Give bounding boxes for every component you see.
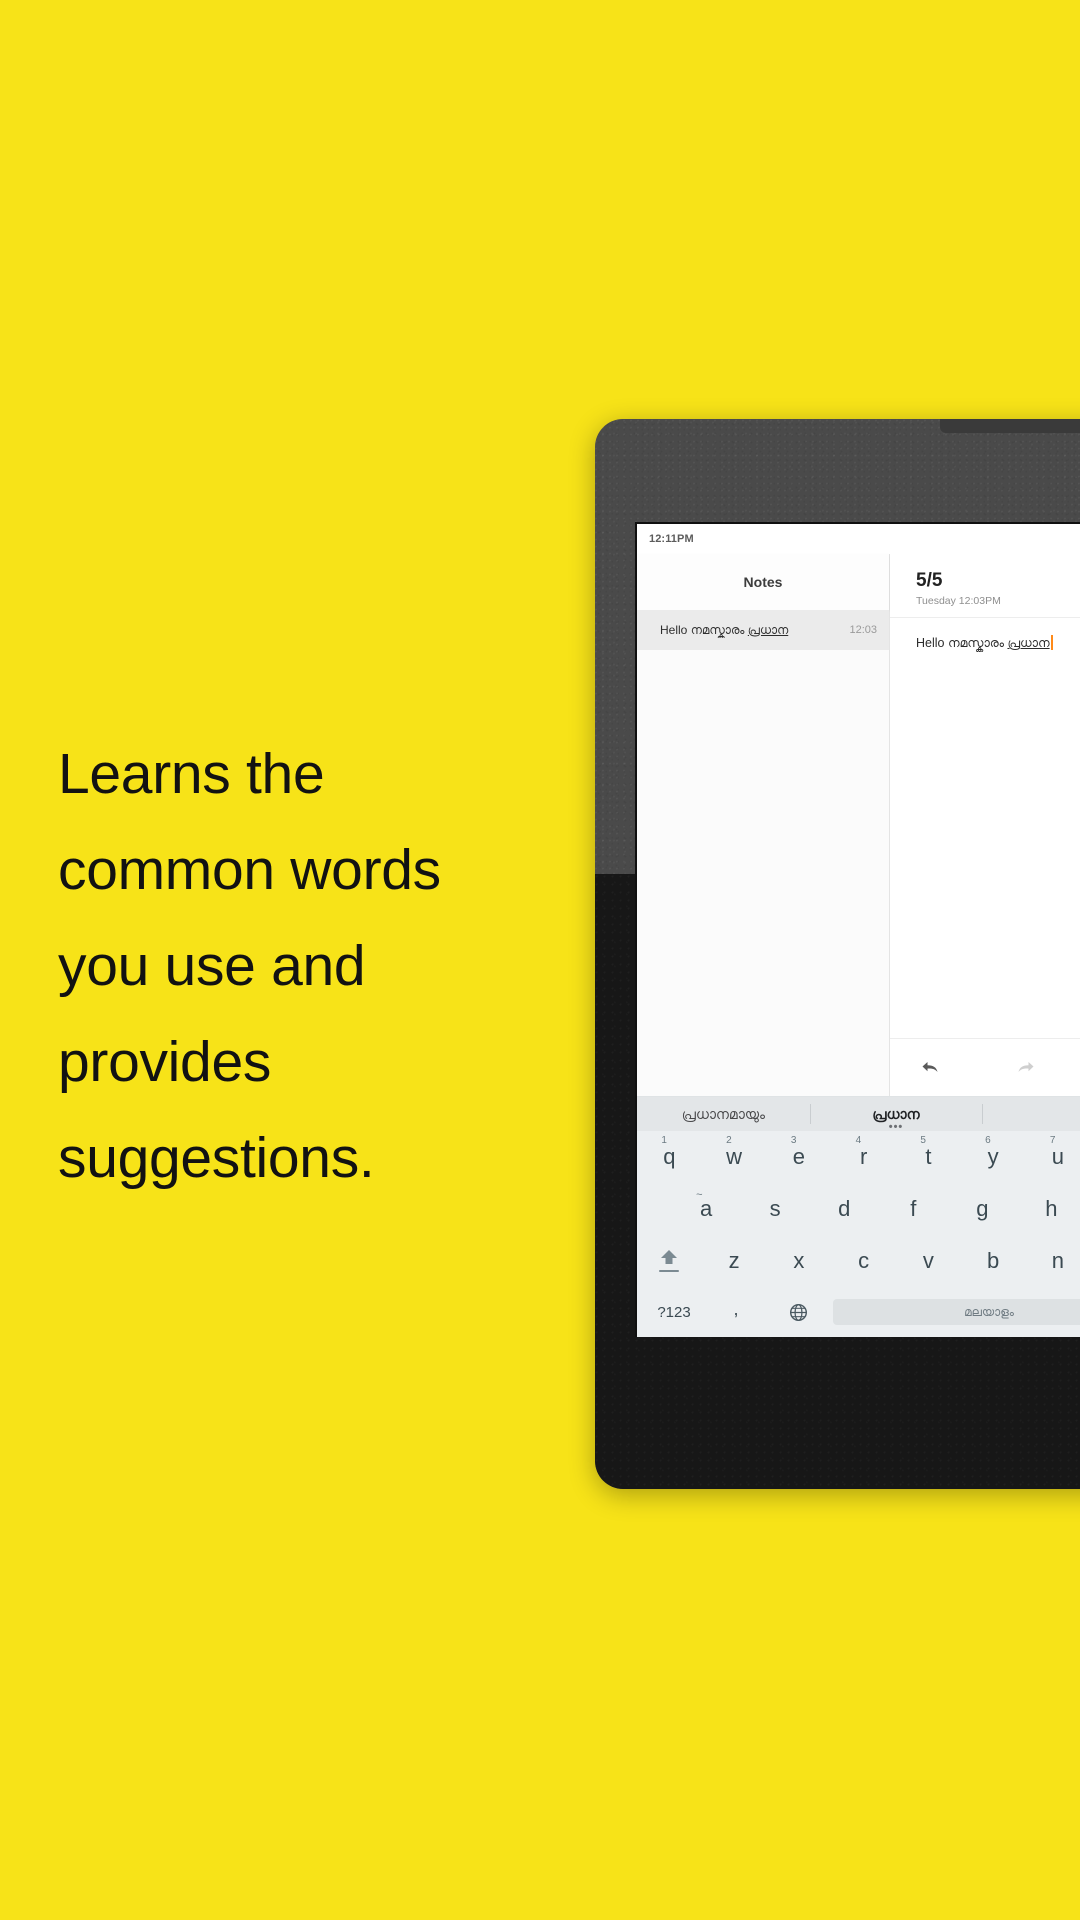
- promo-page: Learns the common words you use and prov…: [0, 0, 1080, 1920]
- note-detail-header: 5/5 Tuesday 12:03PM: [890, 554, 1080, 617]
- suggestion-bar: പ്രധാനമായും പ്രധാന •••: [637, 1097, 1080, 1131]
- key-b[interactable]: b: [961, 1235, 1026, 1287]
- note-detail-title: 5/5: [916, 570, 1080, 592]
- key-label: r: [860, 1144, 867, 1170]
- key-w[interactable]: 2w: [702, 1131, 767, 1183]
- key-y[interactable]: 6y: [961, 1131, 1026, 1183]
- shift-underline: [659, 1270, 679, 1272]
- key-label: s: [770, 1196, 781, 1222]
- undo-icon[interactable]: [918, 1056, 942, 1080]
- note-text-field[interactable]: Hello നമസ്കാരം പ്രധാന: [916, 634, 1080, 652]
- key-number-hint: 2: [726, 1135, 732, 1146]
- key-v[interactable]: v: [896, 1235, 961, 1287]
- page-title: Learns the common words you use and prov…: [58, 726, 528, 1206]
- key-s[interactable]: s: [741, 1183, 810, 1235]
- keyboard-row-1: 1q2w3e4r5t6y7u8i: [637, 1131, 1080, 1183]
- key-label: g: [976, 1196, 988, 1222]
- note-detail-pane: 5/5 Tuesday 12:03PM Hello നമസ്കാരം പ്രധാ…: [890, 554, 1080, 1096]
- redo-icon[interactable]: [1014, 1056, 1038, 1080]
- notes-list-title: Notes: [744, 574, 783, 590]
- status-clock: 12:11PM: [649, 533, 694, 545]
- key-a[interactable]: ~a: [672, 1183, 741, 1235]
- key-f[interactable]: f: [879, 1183, 948, 1235]
- edit-toolbar: [890, 1038, 1080, 1096]
- keyboard-row-2: ~asdfghj: [637, 1183, 1080, 1235]
- notes-list-pane: Notes Hello നമസ്കാരം പ്രധാന 12:03: [637, 554, 890, 1096]
- list-item[interactable]: Hello നമസ്കാരം പ്രധാന 12:03: [637, 610, 889, 650]
- key-label: x: [793, 1248, 804, 1274]
- key-r[interactable]: 4r: [831, 1131, 896, 1183]
- key-u[interactable]: 7u: [1026, 1131, 1080, 1183]
- key-label: d: [838, 1196, 850, 1222]
- key-number-hint: 5: [920, 1135, 926, 1146]
- key-e[interactable]: 3e: [767, 1131, 832, 1183]
- key-number-hint: 1: [661, 1135, 667, 1146]
- suggestion-2[interactable]: [982, 1097, 1080, 1131]
- device-screen: 12:11PM Notes Hello നമസ്കാരം പ്രധാന 12:0…: [635, 522, 1080, 1337]
- text-caret: [1051, 635, 1053, 650]
- key-label: b: [987, 1248, 999, 1274]
- key-x[interactable]: x: [767, 1235, 832, 1287]
- key-z[interactable]: z: [702, 1235, 767, 1287]
- key-g[interactable]: g: [948, 1183, 1017, 1235]
- spacebar-key[interactable]: മലയാളം: [833, 1299, 1080, 1325]
- note-detail-body[interactable]: Hello നമസ്കാരം പ്രധാന: [890, 618, 1080, 1038]
- key-label: n: [1052, 1248, 1064, 1274]
- key-number-hint: 4: [856, 1135, 862, 1146]
- symbols-key[interactable]: ?123: [643, 1287, 705, 1337]
- key-label: q: [663, 1144, 675, 1170]
- notes-list-empty-area: [637, 650, 889, 1096]
- list-item-text: Hello നമസ്കാരം പ്രധാന: [660, 623, 841, 638]
- keyboard-row-bottom: ?123 , മലയാളം: [637, 1287, 1080, 1337]
- suggestion-more-icon: •••: [889, 1123, 904, 1131]
- suggestion-label: പ്രധാന: [872, 1106, 919, 1123]
- key-n[interactable]: n: [1026, 1235, 1080, 1287]
- device-notch: [940, 419, 1080, 433]
- key-label: u: [1052, 1144, 1064, 1170]
- tablet-device: 12:11PM Notes Hello നമസ്കാരം പ്രധാന 12:0…: [595, 419, 1080, 1489]
- on-screen-keyboard: പ്രധാനമായും പ്രധാന ••• 1q2w3e4r5t6y7u8i …: [637, 1096, 1080, 1337]
- key-label: y: [988, 1144, 999, 1170]
- shift-key[interactable]: [637, 1235, 702, 1287]
- globe-icon[interactable]: [767, 1287, 829, 1337]
- note-detail-subtitle: Tuesday 12:03PM: [916, 595, 1080, 607]
- key-h[interactable]: h: [1017, 1183, 1080, 1235]
- suggestion-1[interactable]: പ്രധാന •••: [810, 1097, 983, 1131]
- key-label: h: [1045, 1196, 1057, 1222]
- notes-app-body: Notes Hello നമസ്കാരം പ്രധാന 12:03 5/5 T: [637, 554, 1080, 1096]
- key-label: f: [910, 1196, 916, 1222]
- list-item-time: 12:03: [849, 624, 877, 636]
- shift-arrow-icon: [660, 1250, 678, 1265]
- key-c[interactable]: c: [831, 1235, 896, 1287]
- suggestion-label: പ്രധാനമായും: [682, 1106, 765, 1123]
- keyboard-row-3: zxcvbnr: [637, 1235, 1080, 1287]
- key-accent-hint: ~: [696, 1189, 702, 1201]
- key-d[interactable]: d: [810, 1183, 879, 1235]
- key-label: e: [793, 1144, 805, 1170]
- key-number-hint: 3: [791, 1135, 797, 1146]
- comma-key[interactable]: ,: [705, 1287, 767, 1337]
- status-bar: 12:11PM: [637, 524, 1080, 554]
- key-label: z: [729, 1248, 740, 1274]
- key-label: t: [925, 1144, 931, 1170]
- notes-list-appbar: Notes: [637, 554, 889, 610]
- suggestion-0[interactable]: പ്രധാനമായും: [637, 1097, 810, 1131]
- key-q[interactable]: 1q: [637, 1131, 702, 1183]
- key-label: v: [923, 1248, 934, 1274]
- key-number-hint: 6: [985, 1135, 991, 1146]
- key-number-hint: 7: [1050, 1135, 1056, 1146]
- key-label: c: [858, 1248, 869, 1274]
- key-label: w: [726, 1144, 742, 1170]
- key-t[interactable]: 5t: [896, 1131, 961, 1183]
